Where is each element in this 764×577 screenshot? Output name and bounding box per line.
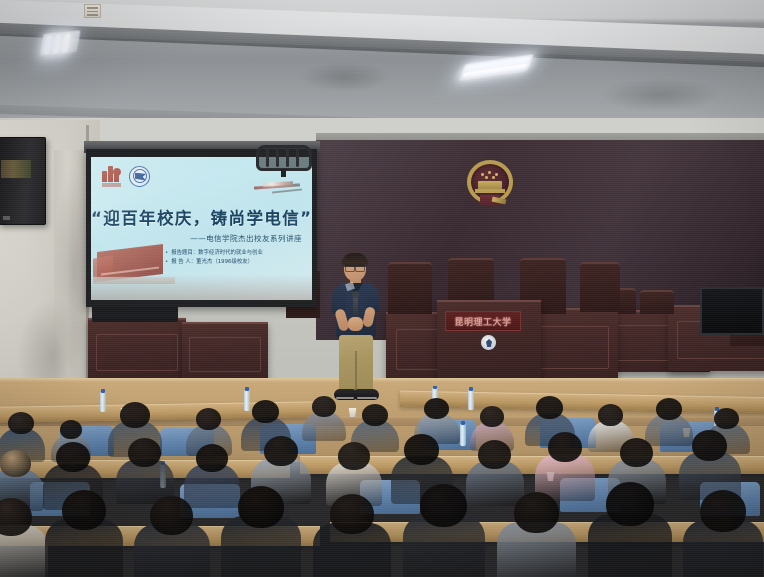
person-head xyxy=(480,406,504,427)
slide-bullet-presenter: 报 告 人：董光杰（1996级校友） xyxy=(165,258,263,267)
audience-area xyxy=(0,386,764,577)
projection-screen: “迎百年校庆，铸尚学电信” ——电信学院杰出校友系列讲座 报告题目：数字经济时代… xyxy=(91,157,312,300)
lecture-hall-photo: “迎百年校庆，铸尚学电信” ——电信学院杰出校友系列讲座 报告题目：数字经济时代… xyxy=(0,0,764,577)
fluorescent-light-fixture xyxy=(456,53,536,89)
bench-chair xyxy=(388,262,432,314)
person-head xyxy=(252,400,279,423)
presenter-glasses xyxy=(345,264,365,269)
slide-title: “迎百年校庆，铸尚学电信” xyxy=(91,205,312,229)
person-head xyxy=(150,496,193,535)
side-bench xyxy=(182,322,268,382)
slide-logos xyxy=(102,165,150,187)
person-head xyxy=(424,398,449,419)
person-head xyxy=(62,490,106,530)
person-head xyxy=(606,482,654,526)
audience-people xyxy=(0,386,764,577)
podium-plaque-text: 昆明理工大学 xyxy=(454,315,511,328)
person-head xyxy=(338,442,370,470)
ceiling-smudge xyxy=(300,62,390,92)
person-head xyxy=(714,408,739,429)
bench-chair xyxy=(580,262,620,312)
university-crest xyxy=(481,335,496,350)
speaker-led xyxy=(3,216,10,220)
podium-name-plaque: 昆明理工大学 xyxy=(445,311,521,331)
person-head xyxy=(656,398,682,420)
person-head xyxy=(598,404,623,426)
person-head xyxy=(478,440,511,469)
projector-mount-stub xyxy=(281,169,286,177)
person-head xyxy=(56,442,90,472)
person-head xyxy=(692,430,727,461)
wall-mounted-loudspeaker xyxy=(0,137,46,225)
bench-chair xyxy=(640,290,674,314)
person-head xyxy=(264,436,298,466)
person-head xyxy=(312,396,336,417)
national-emblem xyxy=(465,158,515,210)
person-head xyxy=(238,486,284,528)
university-seal-logo xyxy=(129,166,150,187)
person-head xyxy=(196,444,228,472)
ceiling-smudge xyxy=(600,78,720,112)
person-head xyxy=(120,402,150,428)
school-building-logo xyxy=(102,165,122,187)
person-head xyxy=(330,494,374,534)
person-head xyxy=(514,492,559,533)
person-head xyxy=(548,432,582,462)
microphone xyxy=(353,295,358,319)
person-head xyxy=(60,420,82,439)
person-head xyxy=(536,396,563,419)
side-bench xyxy=(88,318,186,382)
person-head xyxy=(420,484,467,527)
projector-cage-mount xyxy=(256,145,312,171)
fluorescent-light-fixture xyxy=(39,28,83,60)
person-head xyxy=(8,412,34,434)
person-head xyxy=(620,438,653,467)
person-head xyxy=(196,408,221,430)
speaker-grill xyxy=(1,160,31,178)
person-head xyxy=(700,490,746,532)
slide-bullets: 报告题目：数字经济时代的就业与创业 报 告 人：董光杰（1996级校友） xyxy=(165,249,263,267)
slide-decoration-pen xyxy=(272,188,302,193)
podium-paper-note xyxy=(84,4,101,18)
person-head xyxy=(404,434,439,465)
screen-glare-bottom xyxy=(91,274,312,300)
slide-bullet-topic: 报告题目：数字经济时代的就业与创业 xyxy=(165,249,263,258)
slide-subtitle: ——电信学院杰出校友系列讲座 xyxy=(190,233,302,244)
person-head xyxy=(362,404,388,426)
wall-monitor xyxy=(700,287,764,335)
person-head xyxy=(128,438,161,467)
person-head xyxy=(0,450,31,477)
lectern-podium: 昆明理工大学 xyxy=(437,300,541,385)
